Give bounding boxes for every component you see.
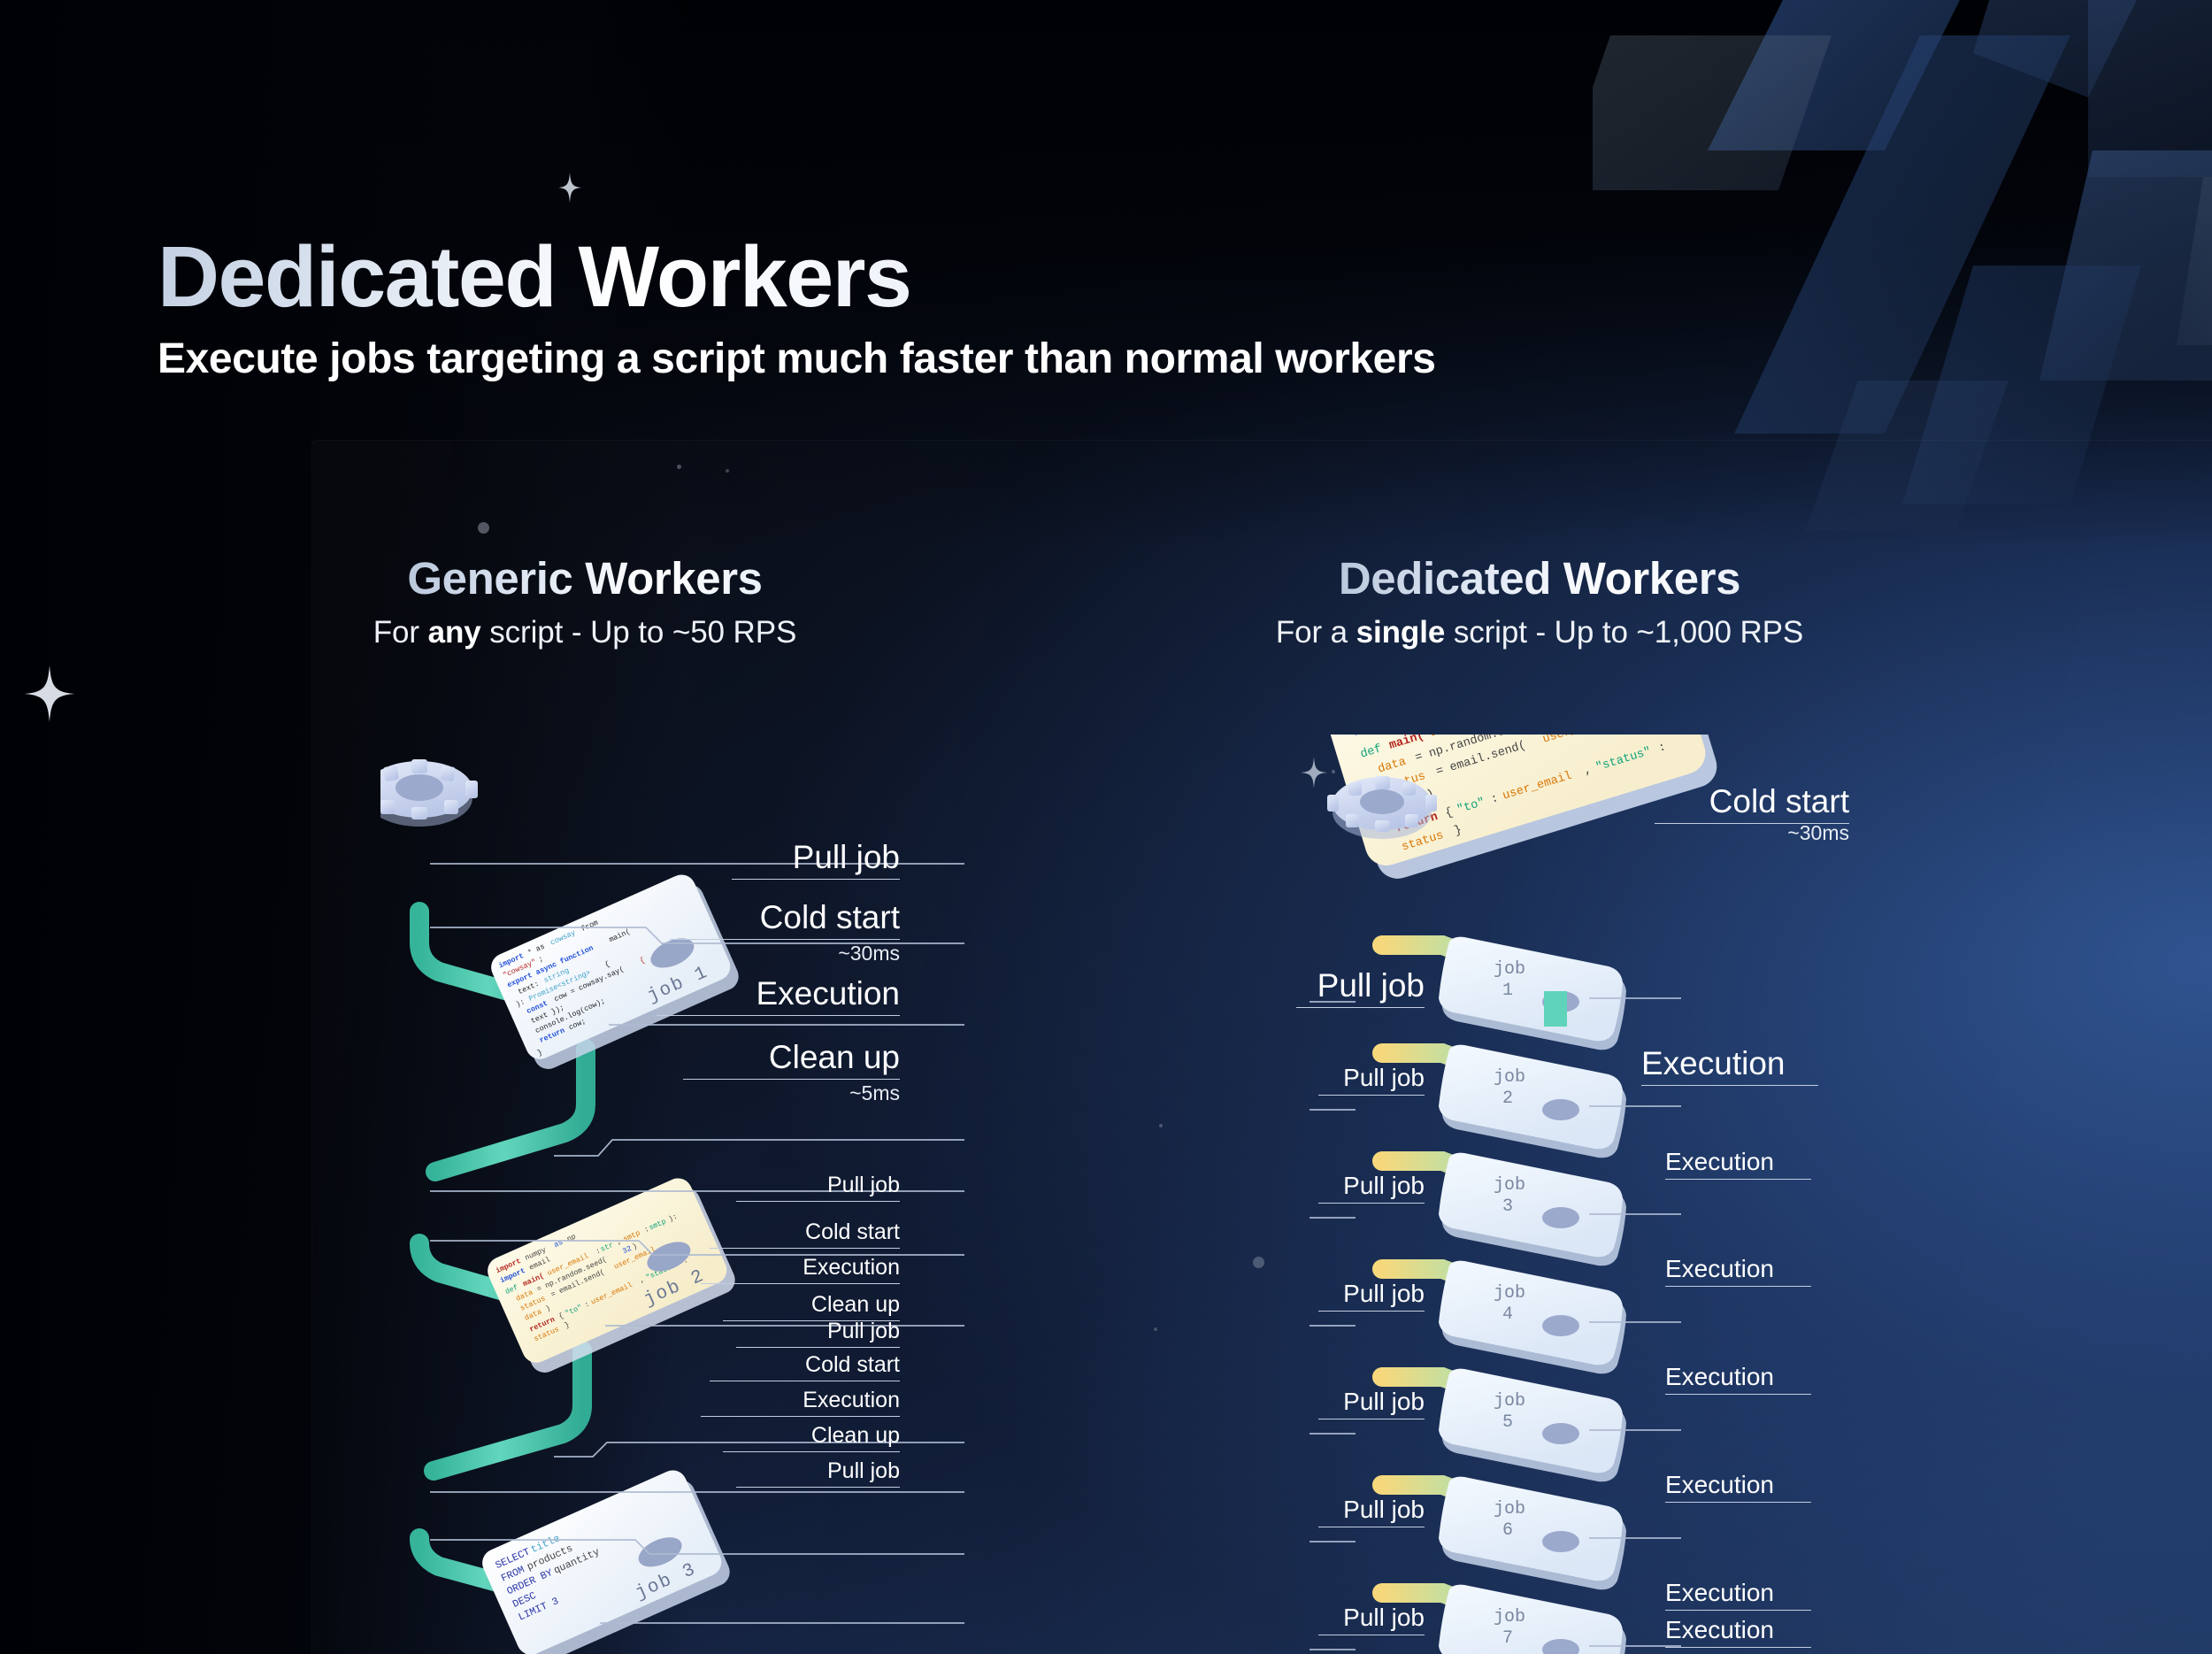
column-title: Dedicated Workers (1339, 552, 1740, 604)
sub-prefix: For a (1276, 615, 1356, 650)
execution-label: Execution (1665, 1616, 1811, 1648)
flow-step-label: Pull job (736, 1319, 900, 1348)
pull-job-label: Pull job (1318, 1064, 1425, 1096)
job-chip-number: 2 (1502, 1089, 1513, 1109)
job-chip: job 3 (1439, 1153, 1626, 1266)
flow-step-label: Pull job (732, 839, 900, 880)
flow-step-label: Execution (701, 1388, 900, 1417)
job-chip-number: 5 (1502, 1412, 1513, 1433)
flow-step-label: Cold start (670, 899, 900, 940)
job-chip: job 1 (1439, 937, 1626, 1050)
column-subtitle: For any script - Up to ~50 RPS (280, 615, 890, 650)
execution-label: Execution (1665, 1363, 1811, 1395)
execution-label: Execution (1641, 1045, 1818, 1086)
job-chip-number: 3 (1502, 1196, 1513, 1217)
job-chip: job 2 (1439, 1045, 1626, 1158)
job-chip-label: job (1494, 1283, 1525, 1304)
pull-job-label: Pull job (1318, 1280, 1425, 1312)
job-chip-number: 7 (1502, 1628, 1513, 1649)
sub-suffix: script - Up to ~1,000 RPS (1445, 615, 1803, 650)
execution-label: Execution (1665, 1255, 1811, 1287)
job-chip-label: job (1494, 1067, 1525, 1088)
flow-step-label: Cold start (710, 1352, 900, 1381)
pull-job-label: Pull job (1318, 1388, 1425, 1419)
pull-job-label: Pull job (1318, 1496, 1425, 1527)
page-subtitle: Execute jobs targeting a script much fas… (157, 335, 2016, 383)
generic-workers-diagram: import* ascowsayfrom "cowsay"; export as… (380, 743, 1000, 1654)
job-chip: job 6 (1439, 1477, 1626, 1590)
execution-label: Execution (1665, 1148, 1811, 1180)
page-title: Dedicated Workers (157, 232, 910, 322)
job-chip: job 4 (1439, 1261, 1626, 1374)
job-chip: job 7 (1439, 1585, 1626, 1654)
flow-step-label: Clean up (723, 1292, 900, 1321)
job-chip-label: job (1494, 1499, 1525, 1519)
flow-step-label: Execution (657, 975, 900, 1016)
job-chip-label: job (1494, 1175, 1525, 1196)
job-chip-number: 4 (1502, 1304, 1513, 1325)
column-subtitle: For a single script - Up to ~1,000 RPS (1177, 615, 1902, 650)
flow-step-label: Clean up (683, 1039, 900, 1080)
flow-step-detail: ~30ms (705, 942, 900, 965)
job-chip-label: job (1494, 1391, 1525, 1412)
flow-step-label: Clean up (723, 1423, 900, 1452)
cold-start-label: Cold start (1655, 783, 1849, 824)
sub-emphasis: single (1356, 615, 1446, 650)
job-chip-label: job (1494, 1607, 1525, 1627)
flow-step-label: Cold start (710, 1219, 900, 1249)
column-title: Generic Workers (407, 552, 762, 604)
pull-job-label: Pull job (1296, 967, 1425, 1008)
column-heading-dedicated: Dedicated Workers For a single script - … (1177, 552, 1902, 650)
pull-job-label: Pull job (1318, 1172, 1425, 1204)
flow-step-label: Pull job (736, 1458, 900, 1488)
sub-suffix: script - Up to ~50 RPS (481, 615, 797, 650)
job-chip-number: 1 (1502, 981, 1513, 1001)
execution-label: Execution (1665, 1471, 1811, 1503)
cold-start-detail: ~30ms (1655, 821, 1849, 845)
pull-job-label: Pull job (1318, 1604, 1425, 1635)
flow-step-detail: ~5ms (705, 1081, 900, 1105)
job-chip-label: job (1494, 959, 1525, 980)
column-heading-generic: Generic Workers For any script - Up to ~… (280, 552, 890, 650)
sub-emphasis: any (428, 615, 481, 650)
flow-step-label: Pull job (736, 1173, 900, 1202)
page-header: Dedicated Workers Execute jobs targeting… (157, 232, 2016, 383)
sub-prefix: For (373, 615, 428, 650)
execution-label: Execution (1665, 1579, 1811, 1611)
flow-step-label: Execution (701, 1255, 900, 1284)
job-chip-number: 6 (1502, 1520, 1513, 1541)
job-chip: job 5 (1439, 1369, 1626, 1482)
